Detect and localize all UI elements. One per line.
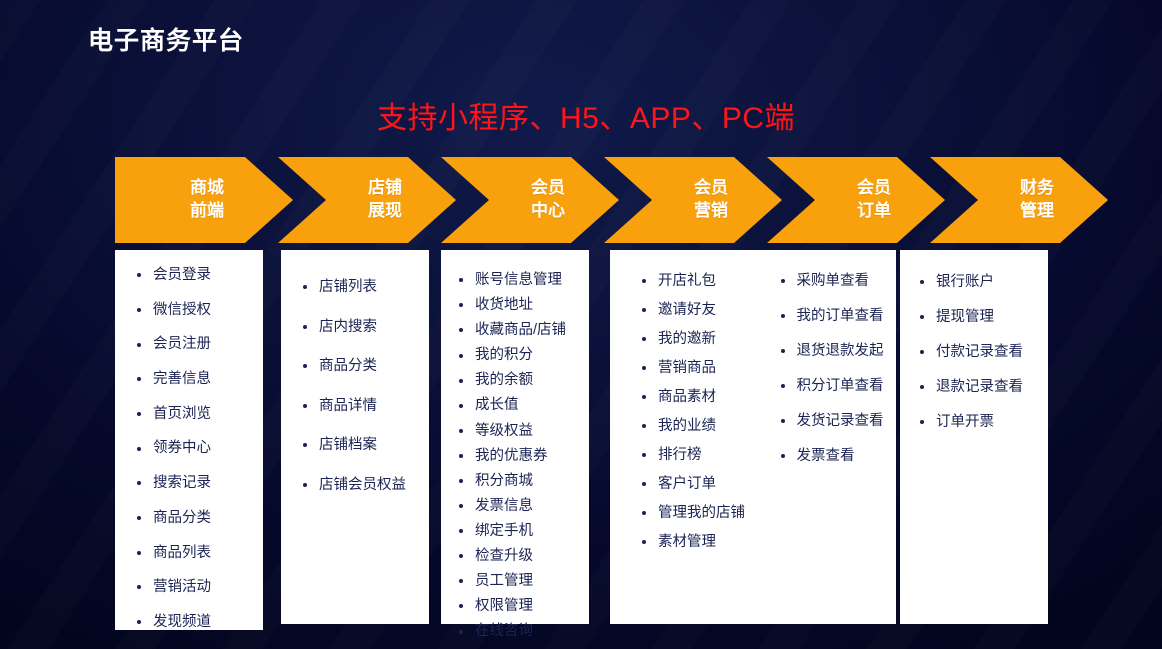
feature-card-member-marketing-and-orders: 开店礼包邀请好友我的邀新营销商品商品素材我的业绩排行榜客户订单管理我的店铺素材管… (610, 250, 896, 624)
list-item[interactable]: 店铺列表 (297, 280, 429, 295)
stage-arrow-0[interactable]: 商城 前端 (115, 157, 293, 243)
list-item[interactable]: 收货地址 (453, 298, 589, 313)
stage-arrow-1[interactable]: 店铺 展现 (278, 157, 456, 243)
list-item[interactable]: 付款记录查看 (914, 345, 1048, 360)
feature-list-5: 银行账户提现管理付款记录查看退款记录查看订单开票 (914, 275, 1048, 430)
list-item[interactable]: 发票查看 (775, 449, 896, 464)
stage-label-4-line1: 会员 (857, 178, 891, 197)
list-item[interactable]: 店铺档案 (297, 438, 429, 453)
stage-label-3: 会员 营销 (604, 177, 782, 223)
list-item[interactable]: 退货退款发起 (775, 344, 896, 359)
feature-card-finance-management-inner: 银行账户提现管理付款记录查看退款记录查看订单开票 (900, 262, 1048, 430)
stage-label-4-line2: 订单 (857, 201, 891, 220)
stage-arrow-3[interactable]: 会员 营销 (604, 157, 782, 243)
list-item[interactable]: 会员注册 (131, 337, 263, 352)
list-item[interactable]: 订单开票 (914, 415, 1048, 430)
list-item[interactable]: 在线咨询 (453, 624, 589, 639)
list-item[interactable]: 提现管理 (914, 310, 1048, 325)
stage-label-5-line1: 财务 (1020, 178, 1054, 197)
list-item[interactable]: 绑定手机 (453, 524, 589, 539)
list-item[interactable]: 等级权益 (453, 424, 589, 439)
feature-card-member-center: 账号信息管理收货地址收藏商品/店铺我的积分我的余额成长值等级权益我的优惠券积分商… (441, 250, 589, 624)
stage-label-5-line2: 管理 (1020, 201, 1054, 220)
stage-label-5: 财务 管理 (930, 177, 1108, 223)
list-item[interactable]: 营销商品 (636, 361, 775, 376)
list-item[interactable]: 收藏商品/店铺 (453, 323, 589, 338)
list-item[interactable]: 店铺会员权益 (297, 478, 429, 493)
stage-arrow-2[interactable]: 会员 中心 (441, 157, 619, 243)
list-item[interactable]: 发票信息 (453, 499, 589, 514)
list-item[interactable]: 搜索记录 (131, 476, 263, 491)
list-item[interactable]: 检查升级 (453, 549, 589, 564)
list-item[interactable]: 开店礼包 (636, 274, 775, 289)
list-item[interactable]: 员工管理 (453, 574, 589, 589)
list-item[interactable]: 管理我的店铺 (636, 506, 775, 521)
list-item[interactable]: 我的业绩 (636, 419, 775, 434)
feature-card-member-marketing-and-orders-inner: 开店礼包邀请好友我的邀新营销商品商品素材我的业绩排行榜客户订单管理我的店铺素材管… (610, 262, 896, 564)
list-item[interactable]: 退款记录查看 (914, 380, 1048, 395)
feature-list-2: 账号信息管理收货地址收藏商品/店铺我的积分我的余额成长值等级权益我的优惠券积分商… (453, 273, 589, 639)
stage-label-3-line2: 营销 (694, 201, 728, 220)
stage-label-0-line1: 商城 (190, 178, 224, 197)
stage-arrow-banner: 商城 前端 店铺 展现 会员 中心 会员 营销 会员 订单 财务 管理 (115, 157, 1075, 243)
feature-card-store-display-inner: 店铺列表店内搜索商品分类商品详情店铺档案店铺会员权益 (281, 262, 429, 492)
list-item[interactable]: 首页浏览 (131, 407, 263, 422)
list-item[interactable]: 排行榜 (636, 448, 775, 463)
list-item[interactable]: 账号信息管理 (453, 273, 589, 288)
feature-card-finance-management: 银行账户提现管理付款记录查看退款记录查看订单开票 (900, 250, 1048, 624)
stage-label-1: 店铺 展现 (278, 177, 456, 223)
feature-list-1: 店铺列表店内搜索商品分类商品详情店铺档案店铺会员权益 (297, 280, 429, 492)
list-item[interactable]: 领券中心 (131, 441, 263, 456)
list-item[interactable]: 商品详情 (297, 399, 429, 414)
list-item[interactable]: 积分订单查看 (775, 379, 896, 394)
list-item[interactable]: 会员登录 (131, 268, 263, 283)
page-title: 电子商务平台 (88, 21, 244, 57)
page-subtitle: 支持小程序、H5、APP、PC端 (0, 93, 1162, 137)
stage-label-1-line2: 展现 (368, 201, 402, 220)
stage-label-0-line2: 前端 (190, 201, 224, 220)
list-item[interactable]: 我的积分 (453, 348, 589, 363)
list-item[interactable]: 素材管理 (636, 535, 775, 550)
list-item[interactable]: 客户订单 (636, 477, 775, 492)
list-item[interactable]: 商品分类 (131, 511, 263, 526)
list-item[interactable]: 采购单查看 (775, 274, 896, 289)
list-item[interactable]: 我的优惠券 (453, 449, 589, 464)
stage-label-4: 会员 订单 (767, 177, 945, 223)
feature-list-4: 采购单查看我的订单查看退货退款发起积分订单查看发货记录查看发票查看 (775, 274, 896, 464)
feature-card-member-center-inner: 账号信息管理收货地址收藏商品/店铺我的积分我的余额成长值等级权益我的优惠券积分商… (441, 262, 589, 639)
list-item[interactable]: 邀请好友 (636, 303, 775, 318)
feature-card-store-display: 店铺列表店内搜索商品分类商品详情店铺档案店铺会员权益 (281, 250, 429, 624)
feature-list-3: 开店礼包邀请好友我的邀新营销商品商品素材我的业绩排行榜客户订单管理我的店铺素材管… (636, 274, 775, 550)
list-item[interactable]: 积分商城 (453, 474, 589, 489)
list-item[interactable]: 完善信息 (131, 372, 263, 387)
feature-list-0: 会员登录微信授权会员注册完善信息首页浏览领券中心搜索记录商品分类商品列表营销活动… (131, 268, 263, 629)
stage-label-2-line2: 中心 (531, 201, 565, 220)
feature-card-shop-frontend: 会员登录微信授权会员注册完善信息首页浏览领券中心搜索记录商品分类商品列表营销活动… (115, 250, 263, 630)
list-item[interactable]: 营销活动 (131, 580, 263, 595)
stage-arrow-4[interactable]: 会员 订单 (767, 157, 945, 243)
list-item[interactable]: 我的邀新 (636, 332, 775, 347)
list-item[interactable]: 商品素材 (636, 390, 775, 405)
list-item[interactable]: 发货记录查看 (775, 414, 896, 429)
list-item[interactable]: 店内搜索 (297, 320, 429, 335)
feature-card-shop-frontend-inner: 会员登录微信授权会员注册完善信息首页浏览领券中心搜索记录商品分类商品列表营销活动… (115, 262, 263, 629)
stage-label-2-line1: 会员 (531, 178, 565, 197)
feature-subcolumn-member-marketing: 开店礼包邀请好友我的邀新营销商品商品素材我的业绩排行榜客户订单管理我的店铺素材管… (624, 274, 775, 564)
list-item[interactable]: 成长值 (453, 398, 589, 413)
list-item[interactable]: 我的订单查看 (775, 309, 896, 324)
list-item[interactable]: 权限管理 (453, 599, 589, 614)
list-item[interactable]: 微信授权 (131, 303, 263, 318)
list-item[interactable]: 银行账户 (914, 275, 1048, 290)
list-item[interactable]: 商品分类 (297, 359, 429, 374)
list-item[interactable]: 我的余额 (453, 373, 589, 388)
list-item[interactable]: 商品列表 (131, 546, 263, 561)
stage-label-3-line1: 会员 (694, 178, 728, 197)
stage-label-1-line1: 店铺 (368, 178, 402, 197)
stage-label-0: 商城 前端 (115, 177, 293, 223)
feature-subcolumn-member-orders: 采购单查看我的订单查看退货退款发起积分订单查看发货记录查看发票查看 (775, 274, 896, 564)
list-item[interactable]: 发现频道 (131, 615, 263, 630)
stage-label-2: 会员 中心 (441, 177, 619, 223)
